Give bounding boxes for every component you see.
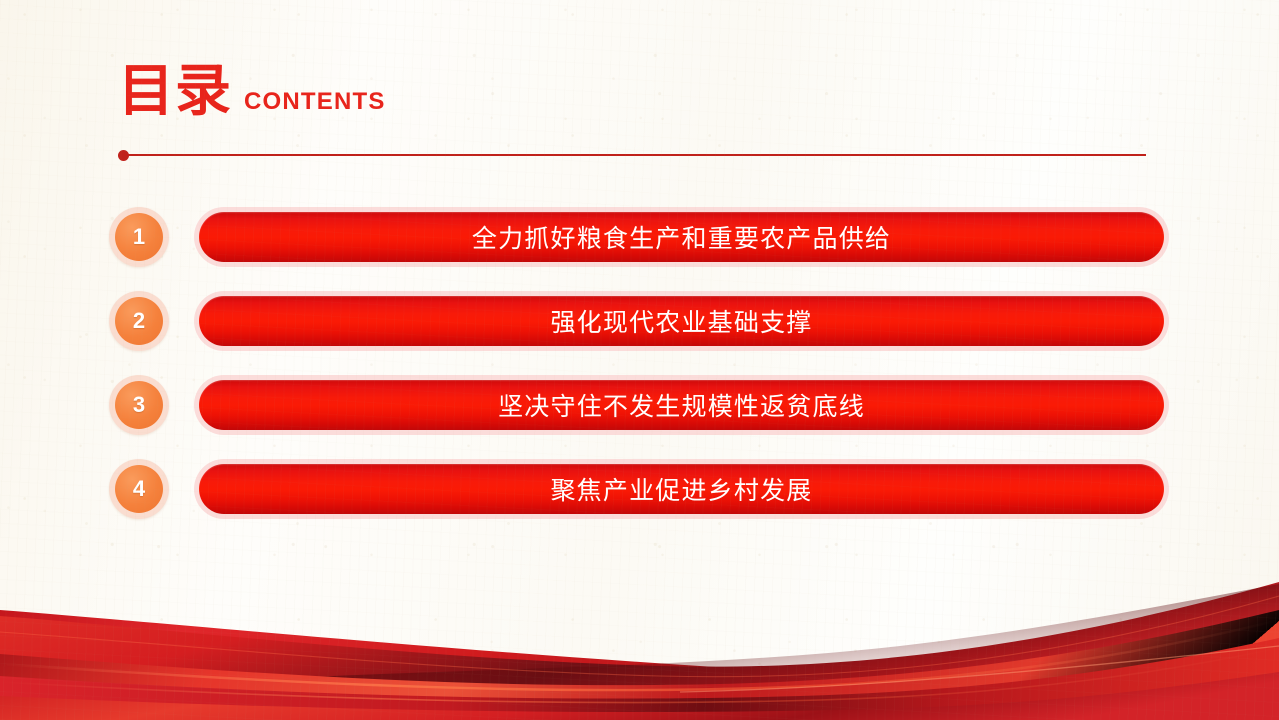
item-label: 聚焦产业促进乡村发展: [550, 471, 812, 507]
item-pill[interactable]: 全力抓好粮食生产和重要农产品供给: [194, 207, 1169, 267]
list-item[interactable]: 2 强化现代农业基础支撑: [109, 291, 1169, 351]
item-number-badge: 1: [109, 207, 169, 267]
list-item[interactable]: 3 坚决守住不发生规模性返贫底线: [109, 375, 1169, 435]
item-pill[interactable]: 聚焦产业促进乡村发展: [194, 459, 1169, 519]
item-number: 1: [115, 213, 163, 261]
item-number-badge: 2: [109, 291, 169, 351]
list-item[interactable]: 4 聚焦产业促进乡村发展: [109, 459, 1169, 519]
item-number: 2: [115, 297, 163, 345]
list-item[interactable]: 1 全力抓好粮食生产和重要农产品供给: [109, 207, 1169, 267]
title-divider: [118, 148, 1146, 162]
contents-list: 1 全力抓好粮食生产和重要农产品供给 2 强化现代农业基础支撑 3: [109, 207, 1169, 519]
item-number-badge: 3: [109, 375, 169, 435]
item-pill[interactable]: 坚决守住不发生规模性返贫底线: [194, 375, 1169, 435]
item-pill[interactable]: 强化现代农业基础支撑: [194, 291, 1169, 351]
page-title: 目录 CONTENTS: [118, 64, 386, 120]
item-label: 坚决守住不发生规模性返贫底线: [498, 387, 865, 423]
item-number-badge: 4: [109, 459, 169, 519]
title-chinese: 目录: [118, 64, 232, 120]
item-number: 4: [115, 465, 163, 513]
item-number: 3: [115, 381, 163, 429]
red-wave-ribbon-icon: [0, 580, 1279, 720]
divider-line: [128, 154, 1146, 156]
item-label: 强化现代农业基础支撑: [550, 303, 812, 339]
title-english: CONTENTS: [244, 88, 386, 120]
slide-canvas: 目录 CONTENTS 1 全力抓好粮食生产和重要农产品供给 2: [0, 0, 1279, 720]
item-label: 全力抓好粮食生产和重要农产品供给: [472, 219, 891, 255]
